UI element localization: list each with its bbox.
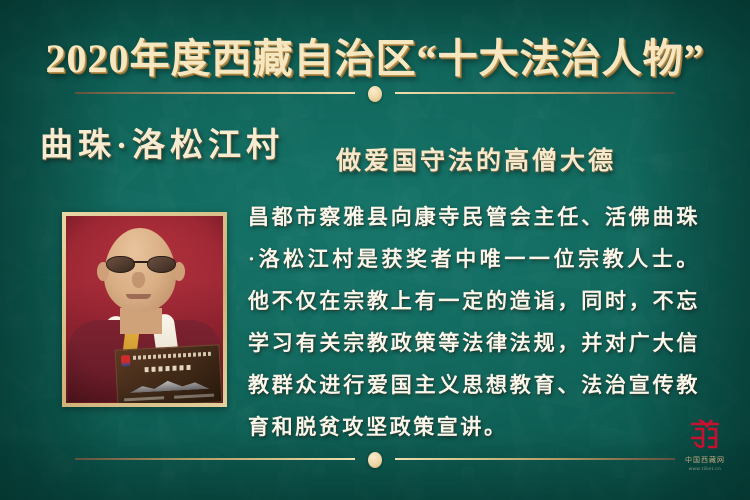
divider-bar-left bbox=[75, 458, 355, 460]
site-logo-seal-icon bbox=[685, 418, 725, 452]
divider-bar-right bbox=[395, 458, 675, 460]
divider-dot-icon bbox=[368, 86, 382, 102]
person-subtitle: 做爱国守法的高僧大德 bbox=[336, 141, 616, 177]
divider-bar-right bbox=[395, 92, 675, 94]
divider-dot-icon bbox=[368, 452, 382, 468]
photo-vignette bbox=[66, 216, 223, 403]
body-paragraph: 昌都市察雅县向康寺民管会主任、活佛曲珠·洛松江村是获奖者中唯一一位宗教人士。他不… bbox=[248, 196, 700, 448]
portrait-photo-frame bbox=[62, 212, 227, 407]
divider-bar-left bbox=[75, 92, 355, 94]
divider-bottom bbox=[0, 452, 750, 466]
site-logo[interactable]: 中国西藏网 www.tibet.cn bbox=[674, 418, 736, 480]
site-logo-name: 中国西藏网 bbox=[674, 455, 736, 465]
person-name: 曲珠·洛松江村 bbox=[40, 118, 284, 166]
divider-top bbox=[0, 86, 750, 100]
portrait-photo bbox=[66, 216, 223, 403]
poster-canvas: 2020年度西藏自治区“十大法治人物” 曲珠·洛松江村 做爱国守法的高僧大德 bbox=[0, 0, 750, 500]
page-title: 2020年度西藏自治区“十大法治人物” bbox=[0, 26, 750, 84]
site-logo-url: www.tibet.cn bbox=[674, 466, 736, 471]
